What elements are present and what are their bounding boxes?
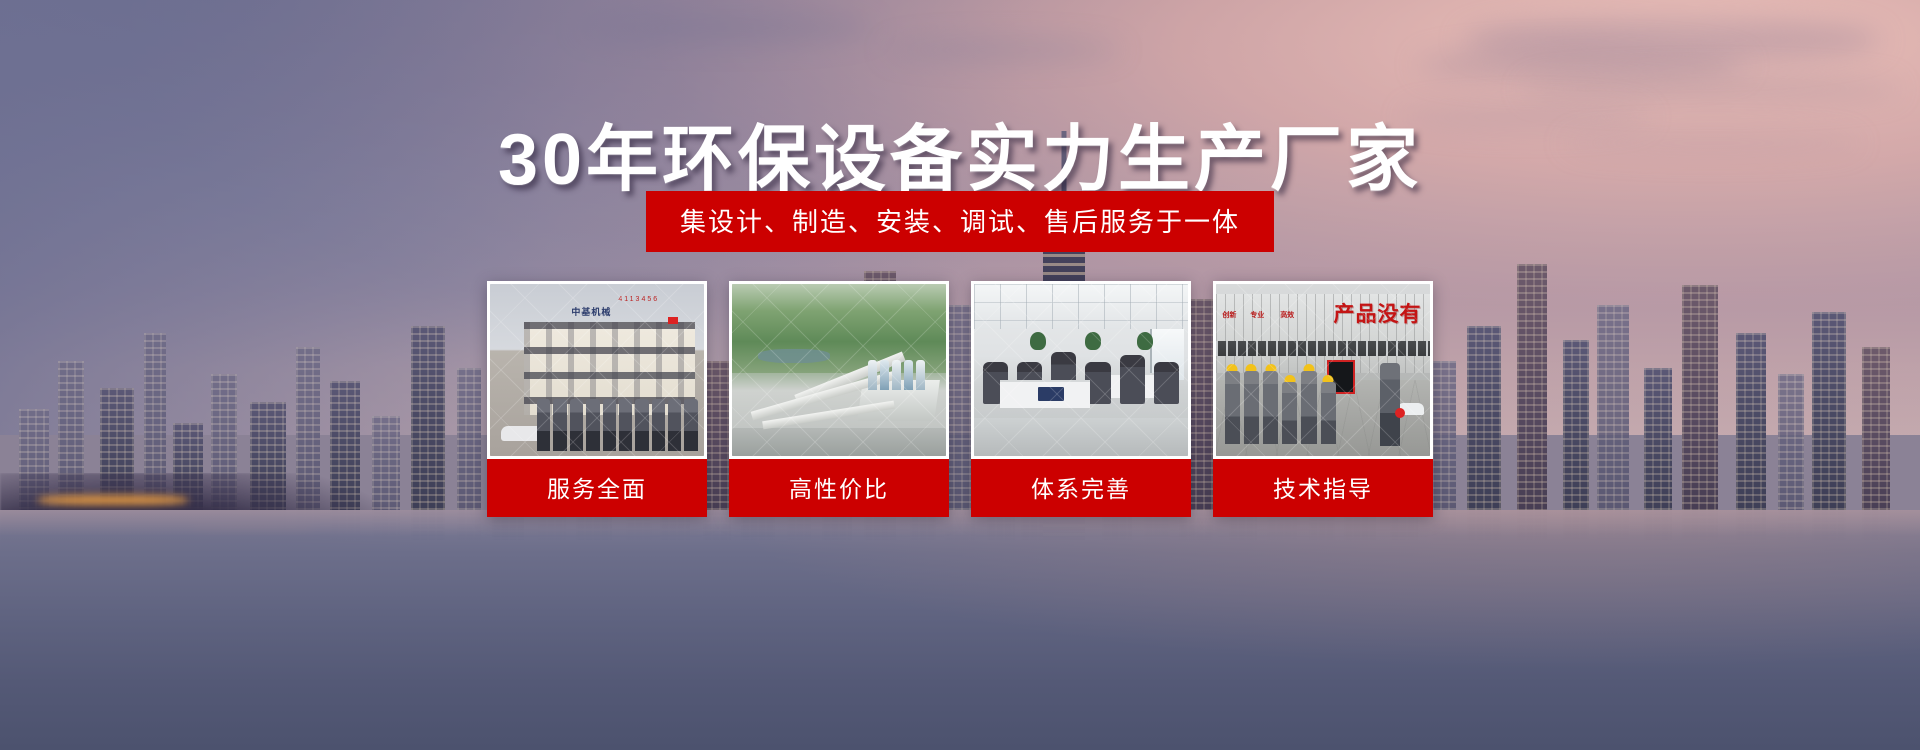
- feature-card-list: 中基机械 4113456 服务全面 高性价比: [487, 281, 1433, 517]
- page-title: 30年环保设备实力生产厂家: [0, 100, 1920, 205]
- subtitle-badge: 集设计、制造、安装、调试、售后服务于一体: [646, 191, 1274, 252]
- factory-slogan-text: 创新: [1222, 312, 1236, 320]
- card-thumbnail-company-office: 中基机械 4113456: [490, 284, 704, 456]
- cloud-band: [1417, 48, 1747, 82]
- flag-icon: [668, 317, 678, 324]
- card-caption: 服务全面: [487, 459, 707, 517]
- river-water: [0, 510, 1920, 750]
- cloud-band: [1462, 17, 1882, 63]
- building-sign-text: 中基机械: [571, 305, 611, 318]
- factory-banner-text: 产品没有: [1333, 298, 1421, 328]
- feature-card[interactable]: 体系完善: [971, 281, 1191, 517]
- card-thumbnail-aerial-plant: [732, 284, 946, 456]
- card-caption: 体系完善: [971, 459, 1191, 517]
- feature-card[interactable]: 产品没有 创新 专业 高效 技术指导: [1213, 281, 1433, 517]
- card-caption: 技术指导: [1213, 459, 1433, 517]
- city-light-glow: [38, 495, 188, 505]
- card-thumbnail-factory-training: 产品没有 创新 专业 高效: [1216, 284, 1430, 456]
- cloud-band: [883, 39, 1123, 61]
- card-thumbnail-office-team: [974, 284, 1188, 456]
- factory-slogan-text: 专业: [1250, 312, 1264, 320]
- card-caption: 高性价比: [729, 459, 949, 517]
- cloud-band: [576, 13, 876, 43]
- factory-slogan-text: 高效: [1280, 312, 1294, 320]
- hero-banner: 30年环保设备实力生产厂家 集设计、制造、安装、调试、售后服务于一体 中基机械 …: [0, 0, 1920, 750]
- feature-card[interactable]: 高性价比: [729, 281, 949, 517]
- building-sign-number: 4113456: [618, 296, 659, 303]
- feature-card[interactable]: 中基机械 4113456 服务全面: [487, 281, 707, 517]
